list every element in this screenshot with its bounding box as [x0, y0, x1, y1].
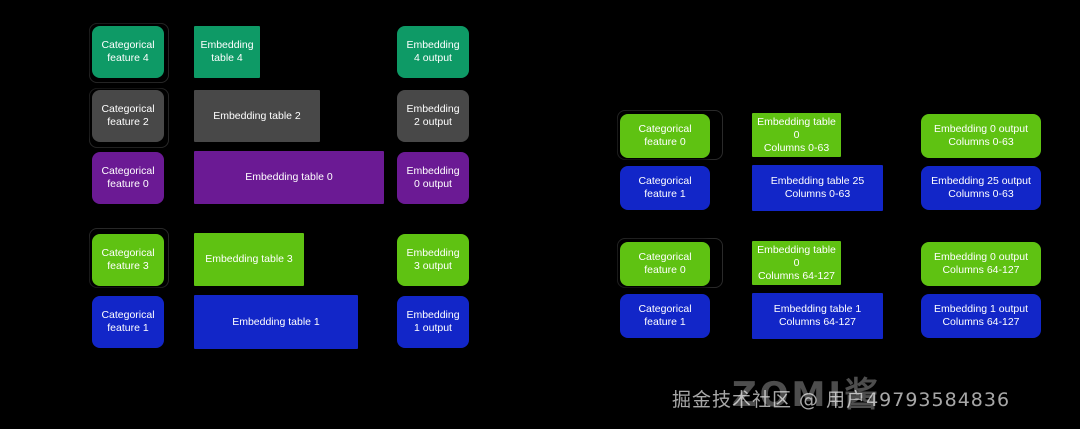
categorical-feature-card[interactable]: Categorical feature 0	[620, 242, 710, 286]
categorical-feature-card[interactable]: Categorical feature 0	[620, 114, 710, 158]
embedding-table-card[interactable]: Embedding table 25 Columns 0-63	[752, 165, 883, 211]
categorical-feature-card[interactable]: Categorical feature 2	[92, 90, 164, 142]
embedding-output-card[interactable]: Embedding 25 output Columns 0-63	[921, 166, 1041, 210]
categorical-feature-card[interactable]: Categorical feature 1	[620, 166, 710, 210]
embedding-table-card[interactable]: Embedding table 1 Columns 64-127	[752, 293, 883, 339]
embedding-output-card[interactable]: Embedding 1 output	[397, 296, 469, 348]
embedding-output-card[interactable]: Embedding 4 output	[397, 26, 469, 78]
watermark: 掘金技术社区 @ 用户49793584836 ZOMI酱	[672, 381, 1080, 415]
embedding-output-card[interactable]: Embedding 0 output Columns 0-63	[921, 114, 1041, 158]
categorical-feature-card[interactable]: Categorical feature 1	[620, 294, 710, 338]
watermark-logo: ZOMI酱	[732, 367, 881, 416]
embedding-output-card[interactable]: Embedding 0 output	[397, 152, 469, 204]
embedding-table-card[interactable]: Embedding table 0 Columns 0-63	[752, 113, 841, 157]
embedding-table-card[interactable]: Embedding table 0	[194, 151, 384, 204]
categorical-feature-card[interactable]: Categorical feature 3	[92, 234, 164, 286]
embedding-output-card[interactable]: Embedding 1 output Columns 64-127	[921, 294, 1041, 338]
embedding-output-card[interactable]: Embedding 0 output Columns 64-127	[921, 242, 1041, 286]
embedding-table-card[interactable]: Embedding table 3	[194, 233, 304, 286]
categorical-feature-card[interactable]: Categorical feature 0	[92, 152, 164, 204]
embedding-table-card[interactable]: Embedding table 1	[194, 295, 358, 349]
embedding-output-card[interactable]: Embedding 2 output	[397, 90, 469, 142]
categorical-feature-card[interactable]: Categorical feature 1	[92, 296, 164, 348]
embedding-output-card[interactable]: Embedding 3 output	[397, 234, 469, 286]
embedding-table-card[interactable]: Embedding table 2	[194, 90, 320, 142]
diagram-canvas: Categorical feature 4 Embedding table 4 …	[0, 0, 1080, 429]
embedding-table-card[interactable]: Embedding table 4	[194, 26, 260, 78]
embedding-table-card[interactable]: Embedding table 0 Columns 64-127	[752, 241, 841, 285]
categorical-feature-card[interactable]: Categorical feature 4	[92, 26, 164, 78]
